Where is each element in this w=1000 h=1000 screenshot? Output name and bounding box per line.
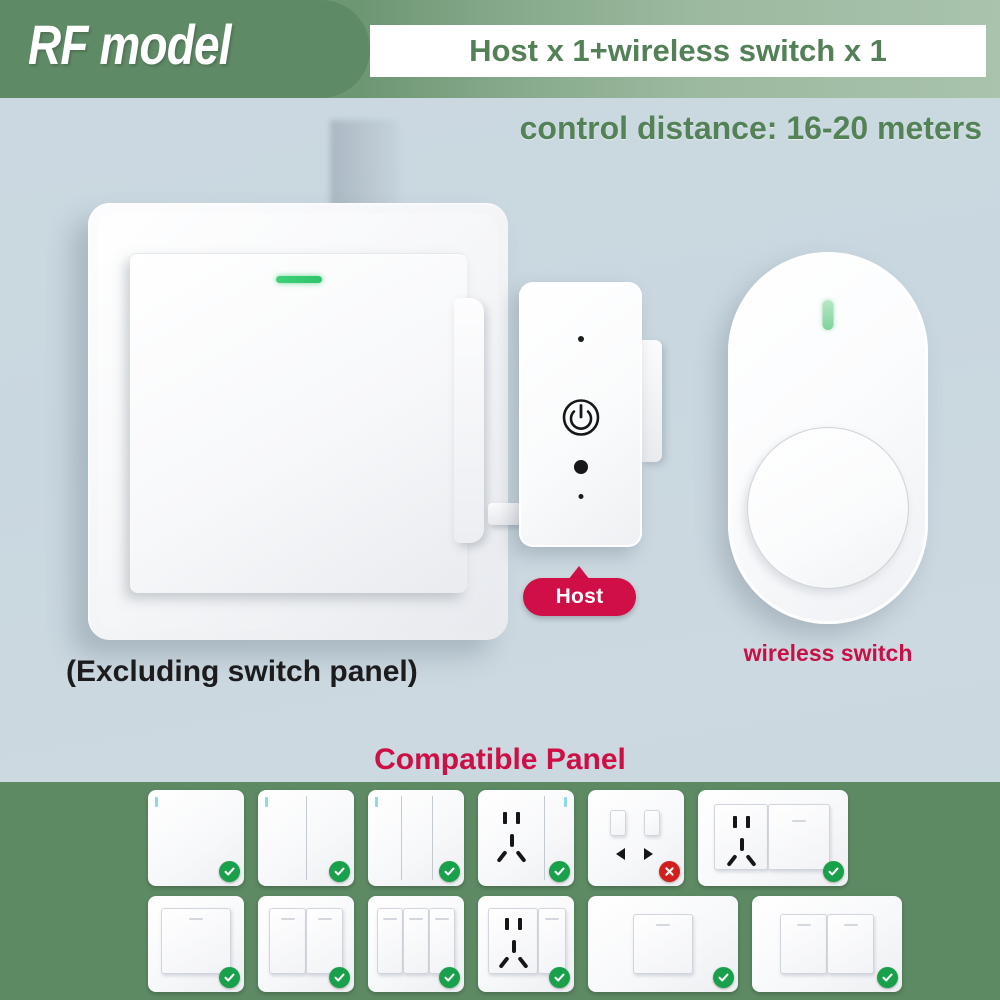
host-indicator-dot-top xyxy=(578,336,584,342)
host-module-clip xyxy=(640,340,662,462)
panel-marker xyxy=(155,797,158,807)
compat-tile-socket-switch-rocker[interactable] xyxy=(478,896,574,992)
excluding-panel-note: (Excluding switch panel) xyxy=(66,655,418,689)
wall-panel-rocker xyxy=(130,253,467,593)
wireless-switch-button[interactable] xyxy=(747,427,909,589)
check-icon xyxy=(219,861,240,882)
package-label: Host x 1+wireless switch x 1 xyxy=(469,33,887,69)
compatible-panel-heading: Compatible Panel xyxy=(0,743,1000,777)
control-distance-label: control distance: 16-20 meters xyxy=(520,110,982,147)
wall-panel-led-icon xyxy=(276,276,322,283)
compat-tile-switch-2gang-wide[interactable] xyxy=(752,896,902,992)
check-icon xyxy=(439,967,460,988)
compat-tile-switch-1gang-flat[interactable] xyxy=(148,790,244,886)
check-icon xyxy=(549,861,570,882)
check-icon xyxy=(549,967,570,988)
header-banner: RF model Host x 1+wireless switch x 1 xyxy=(0,0,1000,98)
cross-icon xyxy=(659,861,680,882)
host-badge-label: Host xyxy=(556,585,604,609)
host-reset-button[interactable] xyxy=(574,460,588,474)
host-badge: Host xyxy=(523,578,636,616)
check-icon xyxy=(823,861,844,882)
wall-panel-side-blade xyxy=(454,298,484,543)
compat-tile-socket-2pin-round[interactable] xyxy=(588,790,684,886)
check-icon xyxy=(877,967,898,988)
compat-tile-switch-1gang-rocker[interactable] xyxy=(148,896,244,992)
compat-tile-socket-switch-wide[interactable] xyxy=(698,790,848,886)
compat-tile-socket-switch-flat[interactable] xyxy=(478,790,574,886)
model-title: RF model xyxy=(28,12,231,78)
check-icon xyxy=(713,967,734,988)
check-icon xyxy=(219,967,240,988)
compat-tile-switch-1gang-wide[interactable] xyxy=(588,896,738,992)
compat-tile-switch-3gang-rocker[interactable] xyxy=(368,896,464,992)
power-icon xyxy=(561,398,600,437)
wireless-switch-led-icon xyxy=(823,300,834,330)
host-module xyxy=(519,282,642,547)
wireless-switch-label: wireless switch xyxy=(728,640,928,667)
compat-tile-switch-3gang-flat[interactable] xyxy=(368,790,464,886)
panel-marker xyxy=(265,797,268,807)
check-icon xyxy=(329,967,350,988)
product-infographic: RF model Host x 1+wireless switch x 1 co… xyxy=(0,0,1000,1000)
compat-tile-switch-2gang-flat[interactable] xyxy=(258,790,354,886)
host-indicator-dot-bottom xyxy=(578,494,583,499)
panel-marker xyxy=(564,797,567,807)
check-icon xyxy=(329,861,350,882)
wireless-switch-device xyxy=(728,252,928,624)
check-icon xyxy=(439,861,460,882)
package-chip: Host x 1+wireless switch x 1 xyxy=(370,25,986,77)
compat-tile-switch-2gang-rocker[interactable] xyxy=(258,896,354,992)
wall-switch-panel xyxy=(88,203,508,640)
compatible-panel-row xyxy=(148,790,1000,888)
compatible-panel-section xyxy=(0,782,1000,1000)
panel-marker xyxy=(375,797,378,807)
compatible-panel-row xyxy=(148,896,1000,994)
